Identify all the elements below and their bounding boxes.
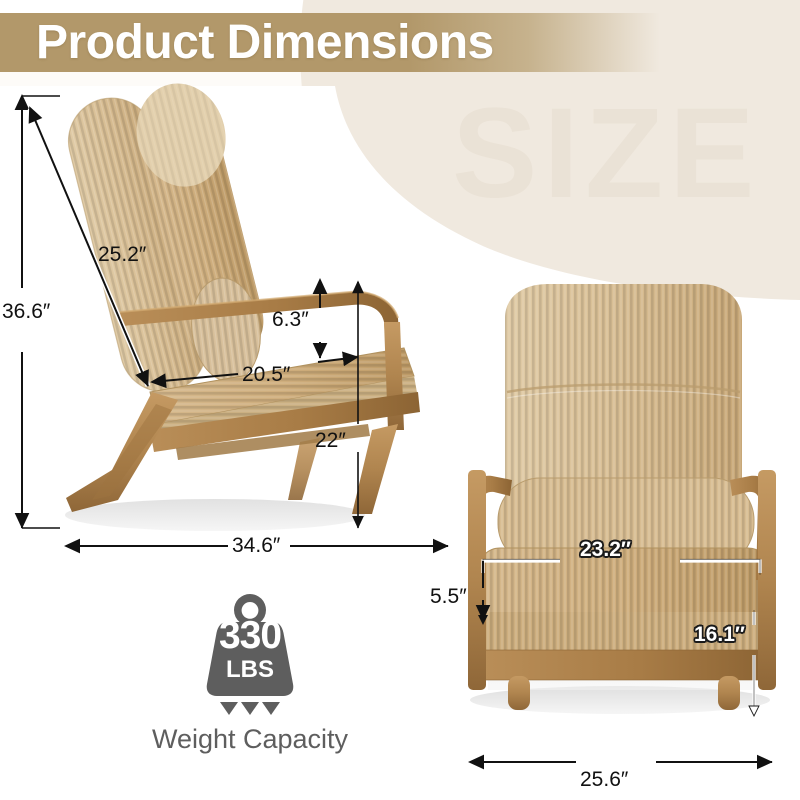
bottom-white-strip — [0, 788, 800, 800]
dimension-label-seat-width: 23.2″ — [580, 538, 631, 562]
dimension-label-seat-height: 16.1″ — [694, 623, 745, 647]
weight-capacity-unit: LBS — [190, 656, 310, 684]
dimension-label-overall-height: 36.6″ — [2, 300, 50, 324]
dimension-label-cushion-height: 5.5″ — [430, 585, 467, 609]
page-title: Product Dimensions — [36, 17, 494, 69]
watermark-size-text: SIZE — [452, 80, 761, 227]
dimension-label-overall-depth: 34.6″ — [232, 534, 280, 558]
weight-icon: 330 LBS — [190, 588, 310, 718]
dimension-label-backrest-height: 25.2″ — [98, 243, 146, 267]
dimension-label-arm-to-seat: 6.3″ — [272, 308, 309, 332]
weight-capacity-block: 330 LBS Weight Capacity — [140, 588, 360, 755]
weight-capacity-caption: Weight Capacity — [140, 724, 360, 755]
weight-capacity-value: 330 — [190, 614, 310, 658]
infographic-page: SIZE Product Dimensions — [0, 0, 800, 800]
dimension-label-seat-depth: 20.5″ — [242, 363, 290, 387]
dimension-label-arm-height: 22″ — [315, 429, 346, 453]
